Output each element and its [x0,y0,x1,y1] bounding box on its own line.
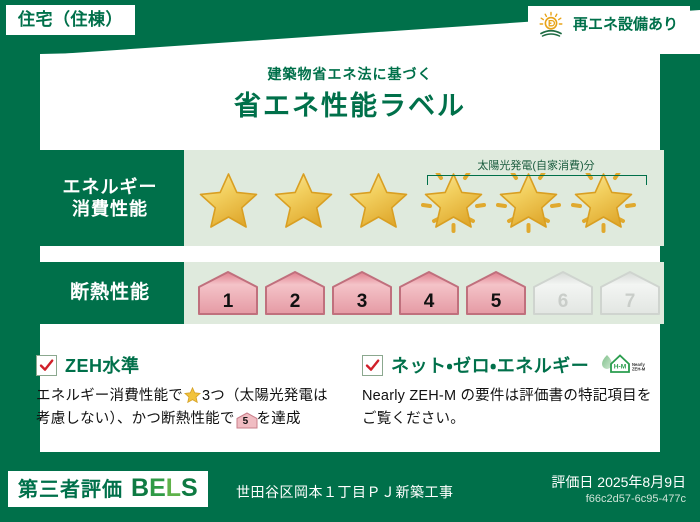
insulation-level-value: 2 [263,292,327,311]
zeh-standard-title: ZEH水準 [65,352,140,378]
inline-house-value: 5 [235,417,257,427]
sun-icon [536,11,566,37]
energy-performance-row: エネルギー 消費性能 太陽光発電(自家消費)分 [36,150,664,246]
net-zero-energy-block: ネット・ゼロ・エネルギー H-M Nearly ZEH-M Nearly ZEH… [362,352,662,432]
insulation-level-6: 6 [531,269,595,317]
star-icon [567,163,640,233]
evaluation-date: 評価日 2025年8月9日 [551,472,686,492]
check-icon [39,358,54,373]
zeh-desc-part3: を達成 [257,411,301,427]
net-zero-description: Nearly ZEH-M の要件は評価書の特記項目をご覧ください。 [362,385,662,432]
energy-performance-row-body: 太陽光発電(自家消費)分 [184,150,664,246]
bels-logo: BELS [131,476,198,501]
insulation-level-1: 1 [196,269,260,317]
net-zero-checkbox [362,355,383,376]
insulation-level-2: 2 [263,269,327,317]
svg-text:ZEH-M: ZEH-M [632,366,645,371]
zeh-desc-part1: エネルギー消費性能で [36,388,183,404]
net-zero-heading-row: ネット・ゼロ・エネルギー H-M Nearly ZEH-M [362,352,662,378]
inline-house-badge: 5 [235,411,257,428]
svg-text:H-M: H-M [614,363,627,370]
star-icon [267,163,340,233]
net-zero-title: ネット・ゼロ・エネルギー [391,352,589,378]
insulation-level-value: 7 [598,292,662,311]
renewable-equipment-label: 再エネ設備あり [573,17,678,32]
insulation-level-value: 1 [196,292,260,311]
insulation-level-value: 6 [531,292,595,311]
building-type-chip: 住宅（住棟） [6,5,135,35]
energy-label-line1: エネルギー [63,176,158,199]
zeh-m-logo-icon: H-M Nearly ZEH-M [597,352,645,378]
zeh-standard-heading-row: ZEH水準 [36,352,336,378]
zeh-checkbox [36,355,57,376]
star-icon [492,163,565,233]
zeh-standard-block: ZEH水準 エネルギー消費性能で3つ（太陽光発電は考慮しない）、かつ断熱性能で5… [36,352,336,432]
star-rating [184,150,664,246]
energy-performance-label: 住宅（住棟） 再エネ設備あり 建築物省エネ法 [0,0,700,522]
insulation-level-5: 5 [464,269,528,317]
insulation-level-scale: 1234567 [184,262,664,324]
evaluation-id: f66c2d57-6c95-477c [586,493,686,505]
star-icon [417,163,490,233]
insulation-level-7: 7 [598,269,662,317]
insulation-level-value: 4 [397,292,461,311]
label-subtitle: 建築物省エネ法に基づく [0,64,700,84]
inline-star-icon [184,387,201,403]
zeh-standard-description: エネルギー消費性能で3つ（太陽光発電は考慮しない）、かつ断熱性能で5を達成 [36,385,336,432]
insulation-performance-row: 断熱性能 1234567 [36,262,664,324]
bels-chip: 第三者評価 BELS [8,471,208,507]
third-party-eval-label: 第三者評価 [18,480,123,500]
check-icon [365,358,380,373]
insulation-performance-row-label: 断熱性能 [36,262,184,324]
insulation-performance-row-body: 1234567 [184,262,664,324]
insulation-level-3: 3 [330,269,394,317]
project-address: 世田谷区岡本１丁目ＰＪ新築工事 [236,482,454,502]
star-icon [192,163,265,233]
page-title: 省エネ性能ラベル [0,84,700,123]
footer-bar: 第三者評価 BELS 世田谷区岡本１丁目ＰＪ新築工事 評価日 2025年8月9日… [0,460,700,522]
insulation-label: 断熱性能 [70,281,150,305]
building-type-label: 住宅（住棟） [18,10,123,29]
insulation-level-value: 3 [330,292,394,311]
renewable-equipment-badge: 再エネ設備あり [528,6,690,42]
insulation-level-value: 5 [464,292,528,311]
insulation-level-4: 4 [397,269,461,317]
star-icon [342,163,415,233]
energy-label-line2: 消費性能 [72,198,148,221]
energy-performance-row-label: エネルギー 消費性能 [36,150,184,246]
